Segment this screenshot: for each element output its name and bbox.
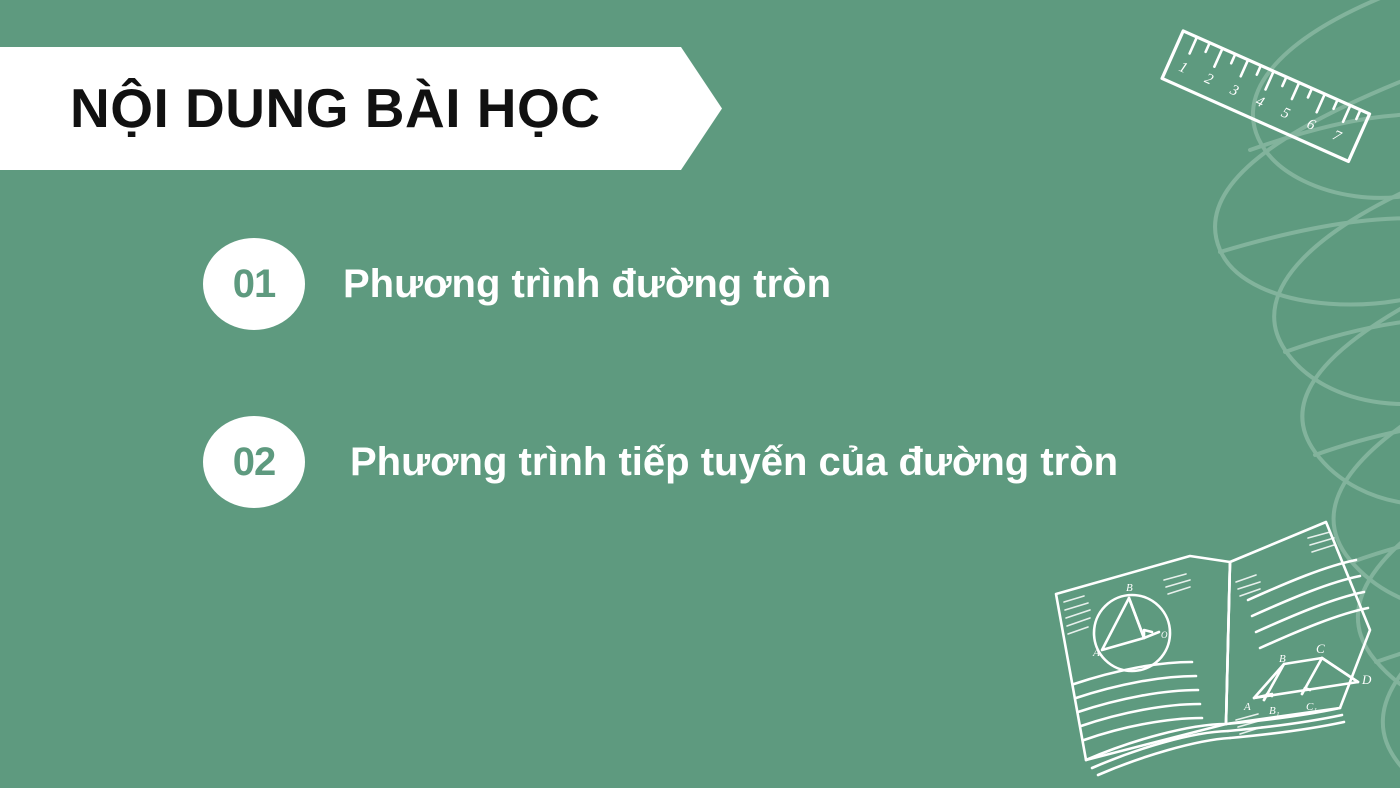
ruler-illustration: 1 2 3 4 5 6 7 [1145, 18, 1385, 178]
spiral-coil-pattern [1070, 0, 1400, 788]
book-label-left-o: O [1161, 630, 1168, 640]
list-item[interactable]: 01 Phương trình đường tròn [0, 232, 1050, 336]
slide-root: 1 2 3 4 5 6 7 [0, 0, 1400, 788]
book-label-left-b: B [1126, 582, 1133, 594]
item-number-badge: 02 [203, 416, 305, 508]
book-label-right-b1: B₁ [1269, 705, 1280, 717]
ruler-tick-2: 2 [1202, 71, 1216, 89]
book-label-right-c1: C₁ [1306, 701, 1317, 713]
book-label-right-a: A [1243, 701, 1251, 713]
list-item[interactable]: 02 Phương trình tiếp tuyến của đường trò… [0, 410, 1050, 514]
book-label-right-b: B [1279, 653, 1286, 665]
item-label: Phương trình đường tròn [343, 264, 831, 304]
ruler-tick-1: 1 [1176, 59, 1189, 77]
page-title: NỘI DUNG BÀI HỌC [70, 81, 601, 136]
book-label-right-d: D [1361, 672, 1372, 687]
ruler-tick-3: 3 [1227, 82, 1241, 100]
ruler-tick-6: 6 [1304, 116, 1318, 134]
open-book-illustration: A B O A B C D B₁ C₁ [1040, 498, 1390, 788]
book-label-left-a: A [1092, 647, 1100, 659]
book-label-right-c: C [1316, 641, 1325, 656]
ruler-tick-4: 4 [1253, 93, 1267, 111]
item-label: Phương trình tiếp tuyến của đường tròn [350, 442, 1118, 482]
title-banner: NỘI DUNG BÀI HỌC [0, 47, 722, 170]
ruler-tick-5: 5 [1279, 105, 1293, 123]
item-number-badge: 01 [203, 238, 305, 330]
content-list: 01 Phương trình đường tròn 02 Phương trì… [0, 232, 1050, 514]
ruler-tick-7: 7 [1330, 128, 1345, 146]
